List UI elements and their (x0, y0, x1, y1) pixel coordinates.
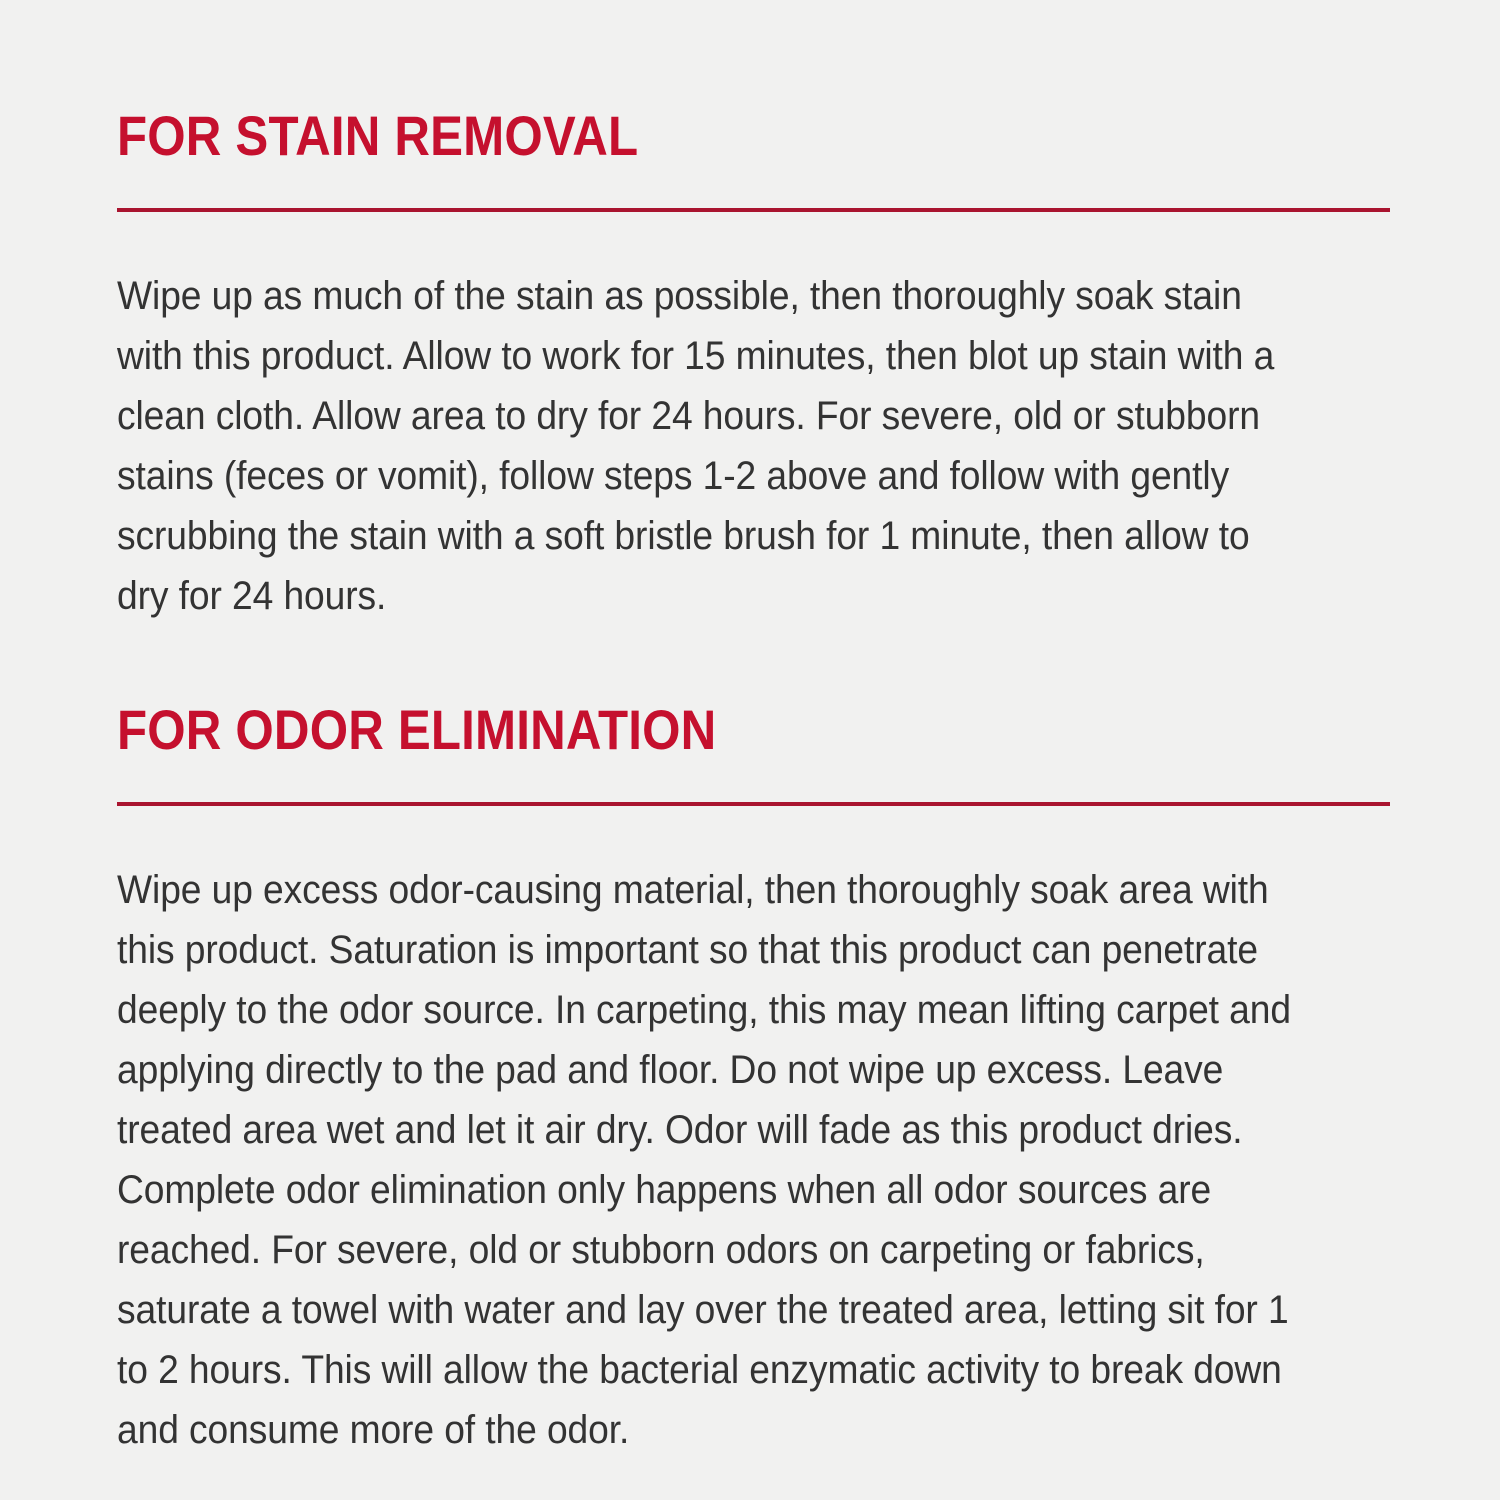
section-body-stain-removal: Wipe up as much of the stain as possible… (117, 220, 1301, 626)
section-heading-odor-elimination: FOR ODOR ELIMINATION (117, 702, 1237, 758)
product-instructions-page: FOR STAIN REMOVAL Wipe up as much of the… (0, 0, 1500, 1500)
section-divider-stain-removal (117, 208, 1390, 212)
section-body-odor-elimination: Wipe up excess odor-causing material, th… (117, 814, 1301, 1460)
section-stain-removal: FOR STAIN REMOVAL Wipe up as much of the… (117, 108, 1390, 626)
section-heading-stain-removal: FOR STAIN REMOVAL (117, 108, 1237, 164)
section-odor-elimination: FOR ODOR ELIMINATION Wipe up excess odor… (117, 702, 1390, 1460)
section-divider-odor-elimination (117, 802, 1390, 806)
